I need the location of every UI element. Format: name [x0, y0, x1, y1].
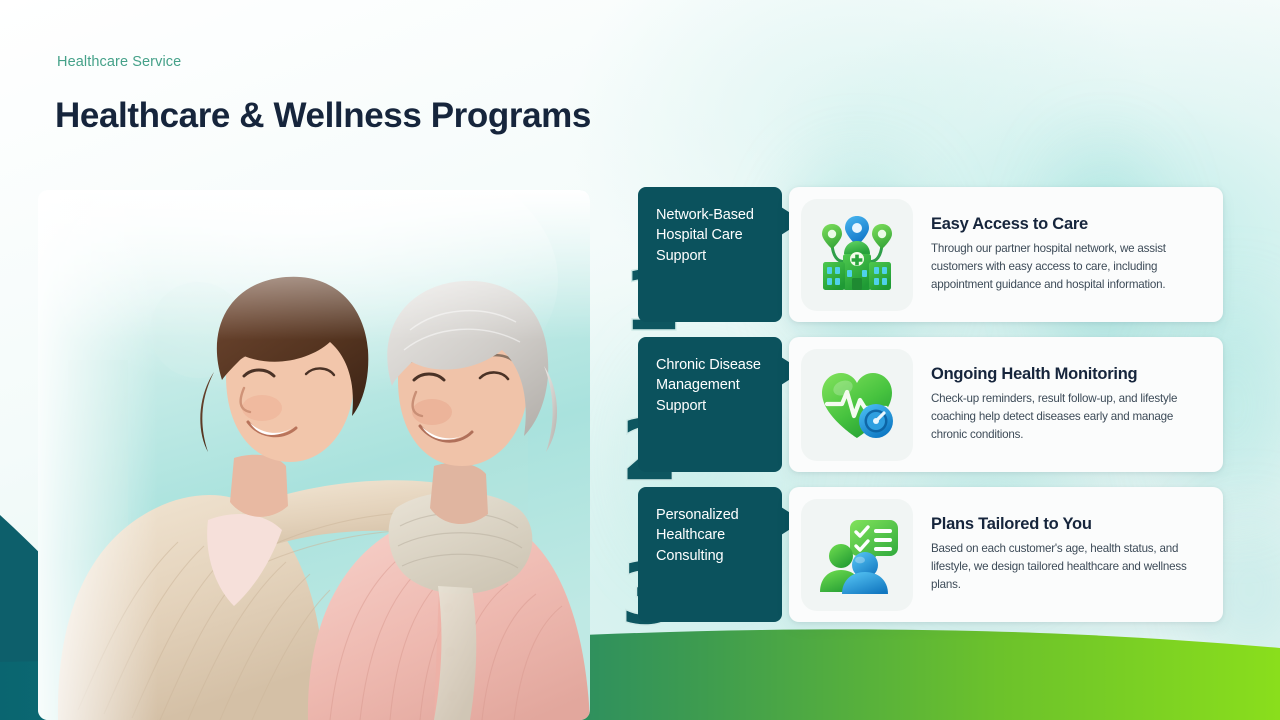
people-checklist-icon — [801, 499, 913, 611]
eyebrow-label: Healthcare Service — [57, 54, 181, 70]
feature-card-description: Through our partner hospital network, we… — [931, 240, 1203, 295]
heart-pulse-gauge-icon — [801, 349, 913, 461]
hero-photo — [38, 190, 590, 720]
feature-card-title: Plans Tailored to You — [931, 515, 1203, 534]
feature-card-body: Plans Tailored to You Based on each cust… — [913, 515, 1207, 595]
feature-card-body: Ongoing Health Monitoring Check-up remin… — [913, 365, 1207, 445]
feature-card-2[interactable]: Ongoing Health Monitoring Check-up remin… — [789, 337, 1223, 472]
hospital-network-icon — [801, 199, 913, 311]
feature-card-description: Check-up reminders, result follow-up, an… — [931, 390, 1203, 445]
feature-tab-3[interactable]: Personalized Healthcare Consulting — [638, 487, 782, 622]
feature-card-3[interactable]: Plans Tailored to You Based on each cust… — [789, 487, 1223, 622]
feature-card-title: Ongoing Health Monitoring — [931, 365, 1203, 384]
feature-tab-1[interactable]: Network-Based Hospital Care Support — [638, 187, 782, 322]
feature-tab-label: Personalized Healthcare Consulting — [656, 505, 768, 566]
feature-tab-label: Network-Based Hospital Care Support — [656, 205, 768, 266]
feature-card-description: Based on each customer's age, health sta… — [931, 540, 1203, 595]
feature-card-title: Easy Access to Care — [931, 215, 1203, 234]
feature-row-3: Personalized Healthcare Consulting — [638, 487, 1223, 622]
feature-card-body: Easy Access to Care Through our partner … — [913, 215, 1207, 295]
page-title: Healthcare & Wellness Programs — [55, 96, 591, 136]
feature-row-1: Network-Based Hospital Care Support — [638, 187, 1223, 322]
feature-tab-label: Chronic Disease Management Support — [656, 355, 768, 416]
feature-tab-2[interactable]: Chronic Disease Management Support — [638, 337, 782, 472]
feature-row-2: Chronic Disease Management Support — [638, 337, 1223, 472]
feature-card-1[interactable]: Easy Access to Care Through our partner … — [789, 187, 1223, 322]
